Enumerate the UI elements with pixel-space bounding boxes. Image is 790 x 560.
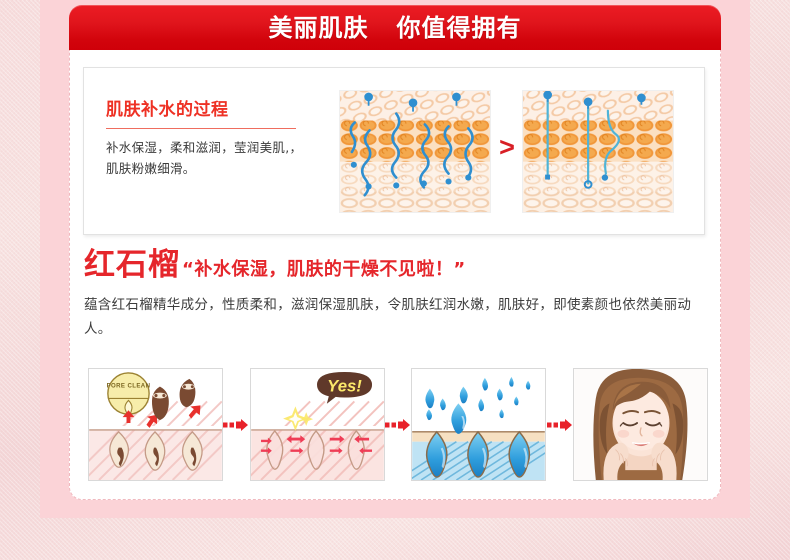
pomegranate-quote: “补水保湿，肌肤的干燥不见啦！” bbox=[182, 261, 466, 279]
svg-text:PORE CLEAN: PORE CLEAN bbox=[107, 383, 151, 390]
promo-page: 美丽肌肤 你值得拥有 肌肤补水的过程 补水保湿，柔和滋润，莹润美肌,，肌肤粉嫩细… bbox=[0, 0, 790, 560]
skin-cross-section-after-figure bbox=[522, 90, 674, 213]
skin-cross-section-before-figure bbox=[339, 90, 491, 213]
section-banner: 美丽肌肤 你值得拥有 bbox=[69, 5, 721, 50]
pomegranate-brand: 红石榴 bbox=[84, 250, 180, 281]
pore-clean-illustration: PORE CLEAN bbox=[89, 369, 222, 480]
comparison-symbol: > bbox=[496, 134, 518, 161]
strip-arrow-3 bbox=[546, 368, 573, 481]
pores-cleared-panel: Yes! bbox=[250, 368, 385, 481]
pore-clean-panel: PORE CLEAN bbox=[88, 368, 223, 481]
hydration-process-text-block: 肌肤补水的过程 补水保湿，柔和滋润，莹润美肌,，肌肤粉嫩细滑。 bbox=[106, 100, 311, 180]
hydration-process-heading: 肌肤补水的过程 bbox=[106, 100, 311, 120]
strip-arrow-1 bbox=[223, 368, 250, 481]
pomegranate-section: 红石榴 “补水保湿，肌肤的干燥不见啦！” 蕴含红石榴精华成分，性质柔和，滋润保湿… bbox=[84, 250, 708, 341]
pores-cleared-illustration: Yes! bbox=[251, 369, 384, 480]
hydration-panel bbox=[411, 368, 546, 481]
dashed-arrow-icon bbox=[223, 419, 249, 431]
svg-text:Yes!: Yes! bbox=[327, 377, 362, 396]
hydration-process-box: 肌肤补水的过程 补水保湿，柔和滋润，莹润美肌,，肌肤粉嫩细滑。 bbox=[83, 67, 705, 235]
process-strip: PORE CLEAN bbox=[88, 368, 708, 481]
pomegranate-body: 蕴含红石榴精华成分，性质柔和，滋润保湿肌肤，令肌肤红润水嫩，肌肤好，即使素颜也依… bbox=[84, 294, 708, 341]
skin-after-illustration bbox=[523, 91, 673, 212]
result-face-photo bbox=[574, 369, 707, 480]
content-area: 肌肤补水的过程 补水保湿，柔和滋润，莹润美肌,，肌肤粉嫩细滑。 bbox=[69, 50, 721, 500]
dashed-arrow-icon bbox=[547, 419, 573, 431]
dashed-arrow-icon bbox=[385, 419, 411, 431]
banner-title: 美丽肌肤 你值得拥有 bbox=[268, 16, 521, 40]
skin-before-illustration bbox=[340, 91, 490, 212]
result-face-panel bbox=[573, 368, 708, 481]
strip-arrow-2 bbox=[385, 368, 412, 481]
hydration-process-body: 补水保湿，柔和滋润，莹润美肌,，肌肤粉嫩细滑。 bbox=[106, 138, 311, 179]
hydration-illustration bbox=[412, 369, 545, 480]
pomegranate-headline: 红石榴 “补水保湿，肌肤的干燥不见啦！” bbox=[84, 250, 708, 281]
heading-underline bbox=[106, 128, 296, 129]
